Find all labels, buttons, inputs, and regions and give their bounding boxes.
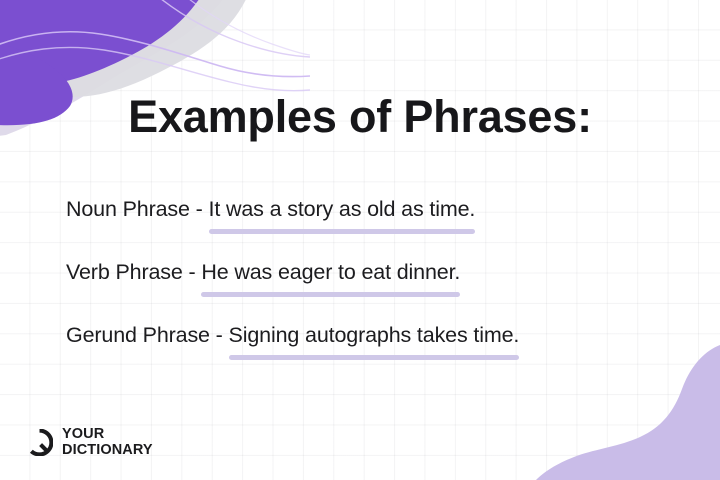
example-line-3: Gerund Phrase - Signing autographs takes… bbox=[66, 322, 676, 348]
example-line-1: Noun Phrase - It was a story as old as t… bbox=[66, 196, 676, 222]
list-item: Gerund Phrase - Signing autographs takes… bbox=[66, 322, 676, 385]
example-label: Noun Phrase bbox=[66, 197, 190, 221]
examples-list: Noun Phrase - It was a story as old as t… bbox=[66, 196, 676, 385]
logo-word-dictionary: DICTIONARY bbox=[62, 443, 153, 459]
yourdictionary-logo: YOUR DICTIONARY bbox=[26, 427, 153, 458]
example-dash: - bbox=[190, 197, 209, 221]
page-title: Examples of Phrases: bbox=[0, 93, 720, 142]
example-dash: - bbox=[210, 323, 229, 347]
example-phrase: It was a story as old as time. bbox=[209, 196, 476, 222]
example-phrase: Signing autographs takes time. bbox=[229, 322, 520, 348]
example-label: Verb Phrase bbox=[66, 260, 183, 284]
list-item: Verb Phrase - He was eager to eat dinner… bbox=[66, 259, 676, 322]
example-dash: - bbox=[183, 260, 202, 284]
example-line-2: Verb Phrase - He was eager to eat dinner… bbox=[66, 259, 676, 285]
list-item: Noun Phrase - It was a story as old as t… bbox=[66, 196, 676, 259]
example-phrase: He was eager to eat dinner. bbox=[201, 259, 460, 285]
yourdictionary-circle-mark-icon bbox=[26, 429, 53, 456]
infographic-canvas: Examples of Phrases: Noun Phrase - It wa… bbox=[0, 0, 720, 480]
example-label: Gerund Phrase bbox=[66, 323, 210, 347]
logo-wordmark: YOUR DICTIONARY bbox=[62, 427, 153, 458]
logo-word-your: YOUR bbox=[62, 427, 153, 443]
